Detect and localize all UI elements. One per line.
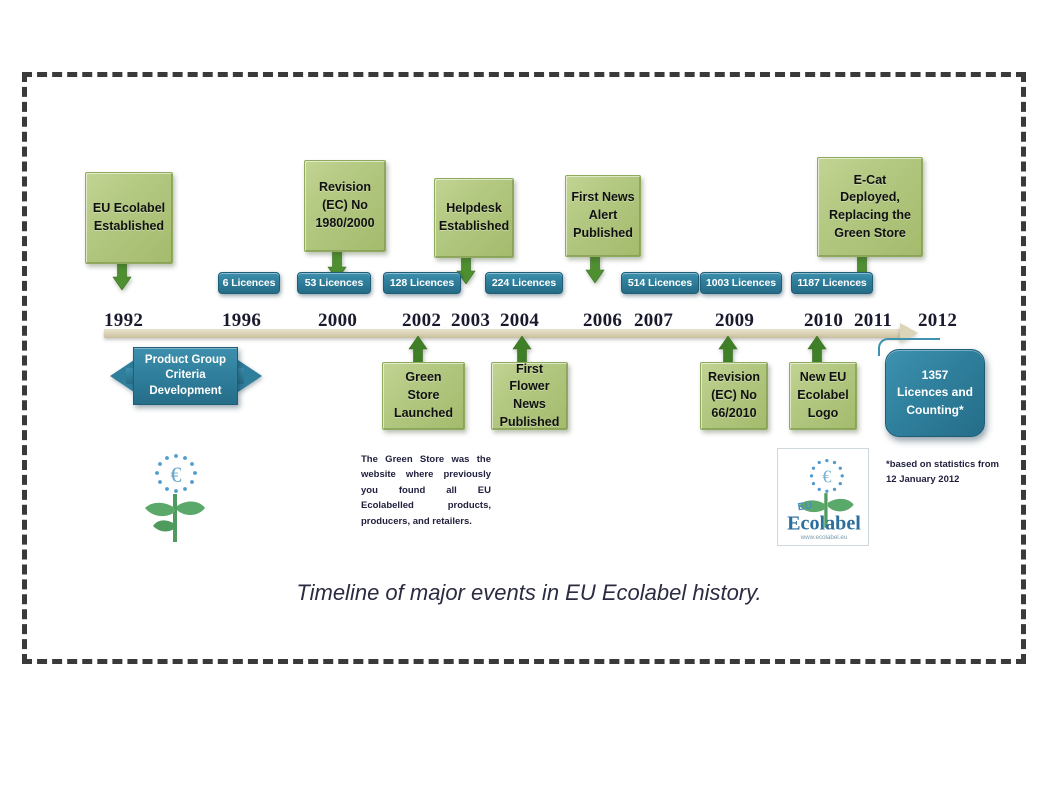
licences-and-counting-box: 1357Licences andCounting* bbox=[885, 349, 985, 437]
year-label-1992: 1992 bbox=[104, 310, 143, 332]
event-box-green-store-launched: Green StoreLaunched bbox=[382, 362, 465, 430]
licences-and-counting-label: 1357Licences andCounting* bbox=[897, 367, 973, 419]
year-label-2006: 2006 bbox=[583, 310, 622, 332]
event-box-label: Green StoreLaunched bbox=[388, 369, 459, 422]
svg-text:€: € bbox=[822, 467, 831, 487]
arrow-up-icon bbox=[717, 336, 739, 364]
arrow-down-icon bbox=[111, 260, 133, 290]
svg-text:www.ecolabel.eu: www.ecolabel.eu bbox=[800, 534, 848, 541]
event-box-label: Revision(EC) No66/2010 bbox=[708, 369, 760, 422]
event-box-label: First FlowerNewsPublished bbox=[497, 361, 562, 432]
year-label-2000: 2000 bbox=[318, 310, 357, 332]
event-box-eu-ecolabel-established: EU EcolabelEstablished bbox=[85, 172, 173, 264]
event-box-e-cat-deployed: E-CatDeployed,Replacing theGreen Store bbox=[817, 157, 923, 257]
licence-badge: 1187 Licences bbox=[791, 272, 873, 294]
product-group-criteria-box: Product GroupCriteriaDevelopment bbox=[133, 347, 238, 405]
svg-text:EU: EU bbox=[797, 499, 813, 513]
arrow-down-icon bbox=[584, 253, 606, 283]
event-box-label: EU EcolabelEstablished bbox=[93, 200, 165, 236]
event-box-label: Revision(EC) No1980/2000 bbox=[315, 179, 374, 232]
licence-badge: 53 Licences bbox=[297, 272, 371, 294]
licence-badge: 1003 Licences bbox=[700, 272, 782, 294]
event-box-first-news-alert-published: First NewsAlertPublished bbox=[565, 175, 641, 257]
event-box-label: HelpdeskEstablished bbox=[439, 200, 509, 236]
licence-badge: 6 Licences bbox=[218, 272, 280, 294]
svg-text:€: € bbox=[171, 462, 182, 487]
arrow-up-icon bbox=[806, 336, 828, 364]
event-box-label: E-CatDeployed,Replacing theGreen Store bbox=[829, 172, 911, 243]
svg-text:Ecolabel: Ecolabel bbox=[787, 513, 861, 535]
licence-badge: 128 Licences bbox=[383, 272, 461, 294]
year-label-2010: 2010 bbox=[804, 310, 843, 332]
licence-badge: 514 Licences bbox=[621, 272, 699, 294]
year-label-1996: 1996 bbox=[222, 310, 261, 332]
year-label-2007: 2007 bbox=[634, 310, 673, 332]
event-box-revision-1980-2000: Revision(EC) No1980/2000 bbox=[304, 160, 386, 252]
event-box-helpdesk-established: HelpdeskEstablished bbox=[434, 178, 514, 258]
arrow-up-icon bbox=[407, 336, 429, 364]
event-box-revision-66-2010: Revision(EC) No66/2010 bbox=[700, 362, 768, 430]
eu-ecolabel-flower-icon: € bbox=[133, 442, 217, 550]
event-box-label: New EUEcolabelLogo bbox=[797, 369, 848, 422]
year-label-2003: 2003 bbox=[451, 310, 490, 332]
year-label-2012: 2012 bbox=[918, 310, 957, 332]
year-label-2004: 2004 bbox=[500, 310, 539, 332]
event-box-label: First NewsAlertPublished bbox=[571, 189, 634, 242]
green-store-note-text: The Green Store was the website where pr… bbox=[361, 452, 491, 529]
footnote-text: *based on statistics from 12 January 201… bbox=[886, 458, 1011, 487]
event-box-first-flower-news-published: First FlowerNewsPublished bbox=[491, 362, 568, 430]
year-label-2009: 2009 bbox=[715, 310, 754, 332]
year-label-2011: 2011 bbox=[854, 310, 892, 332]
timeline-infographic: 1992199620002002200320042006200720092010… bbox=[0, 0, 1058, 794]
product-group-criteria-label: Product GroupCriteriaDevelopment bbox=[145, 353, 226, 400]
eu-ecolabel-logo-icon: € EU Ecolabel www.ecolabel.eu bbox=[777, 448, 869, 546]
page-caption: Timeline of major events in EU Ecolabel … bbox=[0, 580, 1058, 606]
year-label-2002: 2002 bbox=[402, 310, 441, 332]
licence-badge: 224 Licences bbox=[485, 272, 563, 294]
event-box-new-eu-ecolabel-logo: New EUEcolabelLogo bbox=[789, 362, 857, 430]
